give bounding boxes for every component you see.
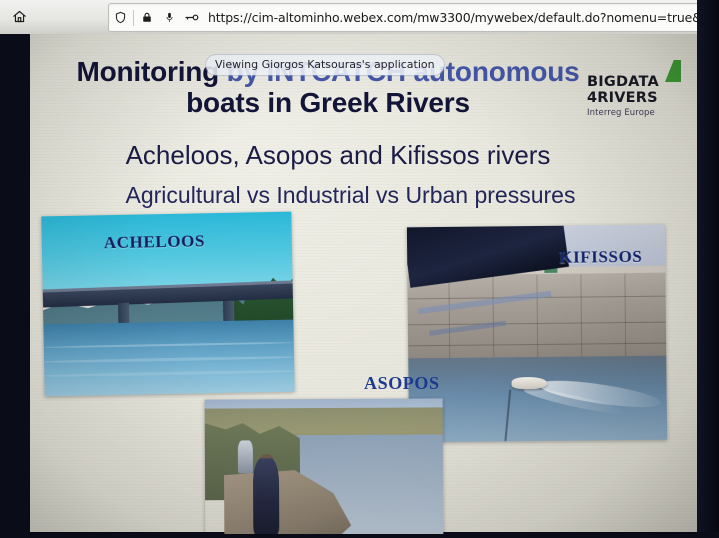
title-line-2: boats in Greek Rivers [58, 87, 598, 118]
key-icon[interactable] [180, 7, 202, 29]
urlbar-divider [133, 10, 134, 26]
photo-acheloos: ACHELOOS [41, 212, 294, 397]
screen-edge-left [0, 34, 30, 538]
asopos-second-person [238, 441, 252, 474]
photo-asopos [205, 398, 444, 534]
url-text[interactable]: https://cim-altominho.webex.com/mw3300/m… [202, 4, 719, 31]
screen-edge-right [697, 0, 719, 538]
lock-icon[interactable] [136, 7, 158, 29]
logo-line-2: 4RIVERS [587, 90, 683, 106]
slide-subtitle-pressures: Agricultural vs Industrial vs Urban pres… [58, 182, 643, 209]
title-part-1: Monitoring [76, 56, 226, 87]
slide-subtitle-rivers: Acheloos, Asopos and Kifissos rivers [58, 140, 618, 170]
browser-chrome: https://cim-altominho.webex.com/mw3300/m… [0, 0, 719, 35]
photo-label-asopos: ASOPOS [364, 373, 440, 394]
address-bar[interactable]: https://cim-altominho.webex.com/mw3300/m… [108, 3, 719, 32]
webex-viewing-banner: Viewing Giorgos Katsouras's application [206, 55, 444, 75]
photo-kifissos: KIFISSOS [407, 225, 667, 443]
home-icon[interactable] [6, 4, 32, 28]
microphone-icon[interactable] [158, 7, 180, 29]
asopos-person [253, 458, 280, 534]
bigdata4rivers-logo: BIGDATA 4RIVERS Interreg Europe [587, 62, 683, 118]
logo-line-3: Interreg Europe [587, 106, 683, 118]
shield-icon[interactable] [109, 7, 131, 29]
photo-label-kifissos: KIFISSOS [559, 247, 642, 268]
photographed-screen: https://cim-altominho.webex.com/mw3300/m… [0, 0, 719, 538]
presentation-slide: Monitoring by INTCATCH autonomous boats … [30, 34, 697, 534]
photo-label-acheloos: ACHELOOS [104, 231, 206, 253]
